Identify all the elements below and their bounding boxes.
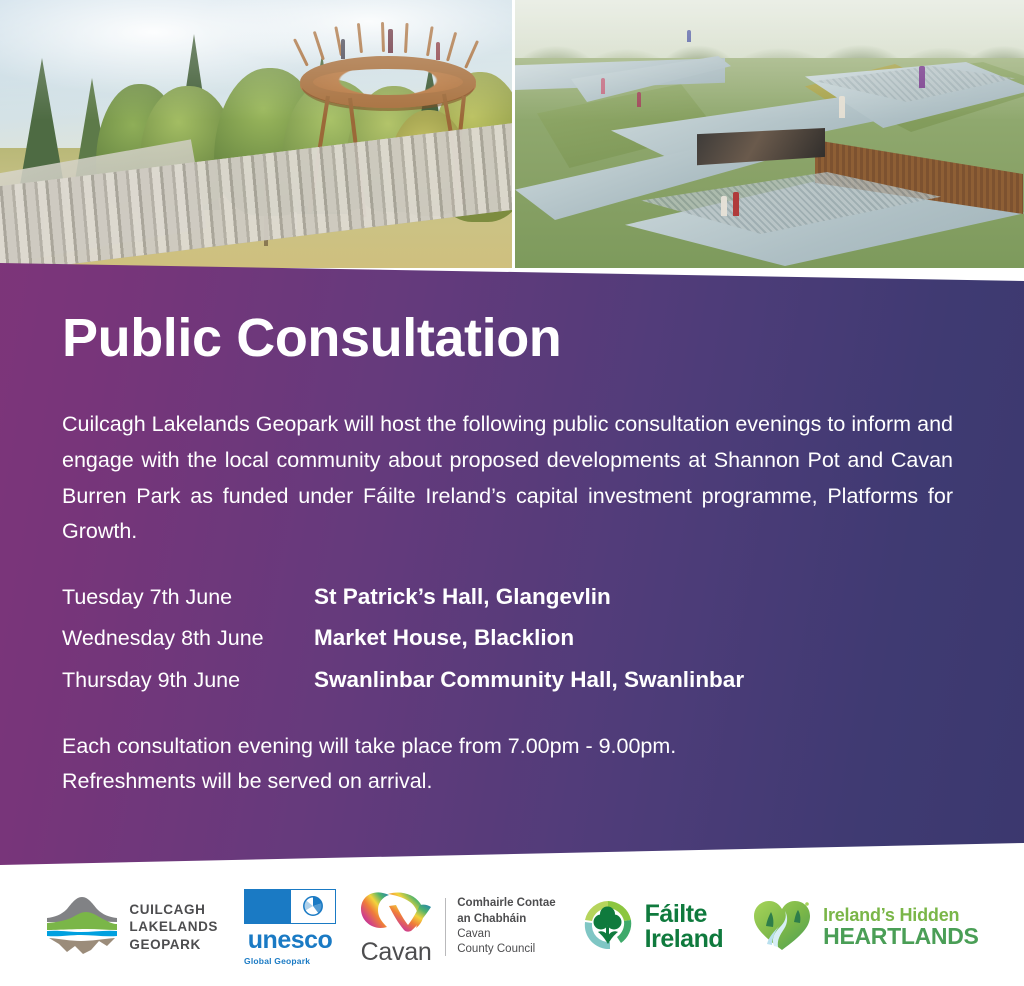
schedule-date: Thursday 9th June — [62, 670, 314, 692]
schedule-venue: St Patrick’s Hall, Glangevlin — [314, 586, 611, 609]
person-figure — [436, 42, 440, 60]
person-figure — [388, 29, 393, 53]
person-figure — [839, 96, 845, 118]
logo-cuilcagh-lakelands-geopark: CUILCAGH LAKELANDS GEOPARK — [45, 894, 218, 961]
failte-word-line-2: Ireland — [645, 927, 723, 953]
unesco-blue-block — [245, 890, 290, 923]
person-figure — [733, 192, 739, 216]
unesco-globe-box — [290, 890, 336, 923]
unesco-subtitle: Global Geopark — [244, 956, 310, 966]
consultation-schedule: Tuesday 7th June St Patrick’s Hall, Glan… — [62, 586, 962, 692]
logo-unesco-global-geopark: unesco Global Geopark — [244, 889, 336, 966]
heartlands-word-line-2: HEARTLANDS — [823, 925, 978, 948]
person-figure — [687, 30, 691, 42]
intro-paragraph: Cuilcagh Lakelands Geopark will host the… — [62, 407, 953, 550]
council-name-block: Comhairle Contae an Chabháin Cavan Count… — [457, 896, 555, 958]
schedule-date: Wednesday 8th June — [62, 628, 314, 650]
person-figure — [341, 39, 345, 59]
closing-note: Each consultation evening will take plac… — [62, 729, 962, 799]
schedule-venue: Market House, Blacklion — [314, 627, 574, 650]
council-name-irish-line-2: an Chabháin — [457, 912, 555, 927]
failte-shamrock-swirl-icon — [580, 898, 636, 957]
logo-cavan-county-council: Cavan Comhairle Contae an Chabháin Cavan… — [358, 889, 556, 965]
poster-content: Public Consultation Cuilcagh Lakelands G… — [62, 310, 962, 799]
unesco-emblem-icon — [244, 889, 336, 924]
cavan-wordmark: Cavan — [361, 940, 432, 965]
council-name-english-line-1: Cavan — [457, 927, 555, 942]
hero-image-strip — [0, 0, 1024, 268]
geopark-wordmark: CUILCAGH LAKELANDS GEOPARK — [129, 901, 218, 953]
cavan-brandmark: Cavan — [358, 889, 434, 965]
schedule-row: Thursday 9th June Swanlinbar Community H… — [62, 669, 962, 692]
logo-divider — [445, 898, 446, 956]
geopark-word-line-2: LAKELANDS — [129, 918, 218, 935]
heartlands-wordmark: Ireland’s Hidden HEARTLANDS — [823, 906, 978, 948]
cavan-cv-monogram-icon — [358, 889, 434, 938]
closing-line-time: Each consultation evening will take plac… — [62, 729, 962, 764]
geopark-mountain-icon — [45, 894, 119, 961]
geopark-word-line-1: CUILCAGH — [129, 901, 218, 918]
person-figure — [919, 66, 925, 88]
council-name-english-line-2: County Council — [457, 942, 555, 957]
closing-line-refreshments: Refreshments will be served on arrival. — [62, 764, 962, 799]
page-title: Public Consultation — [62, 310, 962, 367]
hero-image-visitor-centre — [515, 0, 1024, 268]
council-name-irish-line-1: Comhairle Contae — [457, 896, 555, 911]
public-consultation-poster: Public Consultation Cuilcagh Lakelands G… — [0, 0, 1024, 986]
logo-irelands-hidden-heartlands: Ireland’s Hidden HEARTLANDS — [751, 896, 978, 959]
person-figure — [721, 196, 727, 216]
geopark-word-line-3: GEOPARK — [129, 936, 218, 953]
person-figure — [637, 92, 641, 107]
failte-word-line-1: Fáilte — [645, 902, 723, 928]
unesco-wordmark: unesco — [248, 928, 333, 953]
schedule-row: Tuesday 7th June St Patrick’s Hall, Glan… — [62, 586, 962, 609]
logo-failte-ireland: Fáilte Ireland — [580, 898, 723, 957]
heartlands-heart-river-icon — [751, 896, 813, 959]
person-figure — [601, 78, 605, 94]
schedule-row: Wednesday 8th June Market House, Blackli… — [62, 627, 962, 650]
hero-image-viewing-platform — [0, 0, 512, 268]
partner-logo-bar: CUILCAGH LAKELANDS GEOPARK unesco — [0, 868, 1024, 986]
failte-wordmark: Fáilte Ireland — [645, 902, 723, 953]
schedule-venue: Swanlinbar Community Hall, Swanlinbar — [314, 669, 744, 692]
heartlands-word-line-1: Ireland’s Hidden — [823, 906, 978, 925]
schedule-date: Tuesday 7th June — [62, 587, 314, 609]
